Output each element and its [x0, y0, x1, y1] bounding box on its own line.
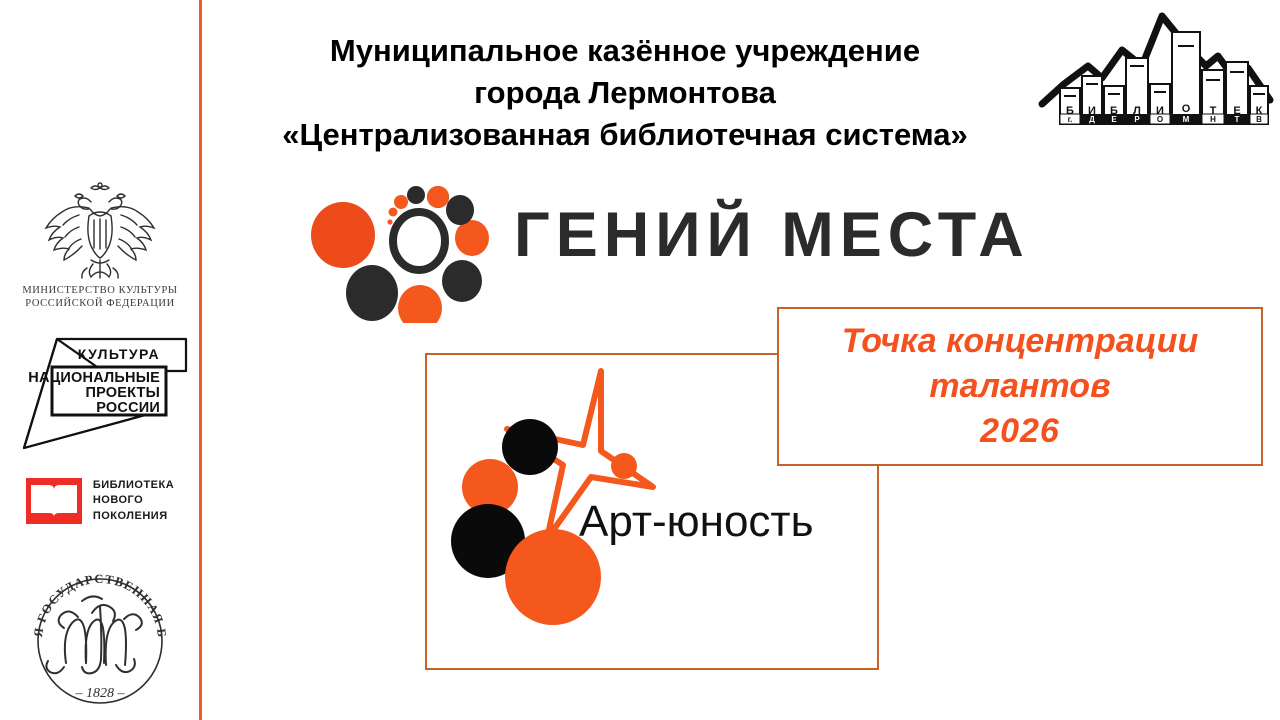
svg-text:Д: Д [1089, 115, 1095, 124]
caption-line-2: РОССИЙСКОЙ ФЕДЕРАЦИИ [25, 298, 175, 309]
svg-text:г.: г. [1068, 115, 1073, 124]
national-projects-top-label: КУЛЬТУРА [78, 346, 160, 362]
newgen-line-2: НОВОГО [93, 493, 174, 508]
svg-text:Р: Р [1134, 115, 1140, 124]
logo-national-projects: КУЛЬТУРА НАЦИОНАЛЬНЫЕ ПРОЕКТЫ РОССИИ [0, 335, 200, 460]
double-headed-eagle-lyre-icon [0, 182, 200, 282]
rsl-year: – 1828 – [75, 686, 126, 701]
geniy-mesta-dots-icon [300, 183, 510, 323]
geniy-mesta-wordmark: ГЕНИЙ МЕСТА [514, 199, 1030, 271]
title-line-1: Муниципальное казённое учреждение [205, 30, 1045, 72]
open-book-red-icon [26, 478, 82, 524]
tagline-card[interactable]: Точка концентрации талантов 2026 [777, 307, 1263, 466]
svg-text:В: В [1256, 115, 1262, 124]
svg-text:НАЦИОНАЛЬНЫЕ: НАЦИОНАЛЬНЫЕ [28, 370, 160, 386]
svg-text:О: О [1182, 103, 1191, 115]
svg-text:ПРОЕКТЫ: ПРОЕКТЫ [85, 385, 160, 401]
slide-canvas: МИНИСТЕРСТВО КУЛЬТУРЫ РОССИЙСКОЙ ФЕДЕРАЦ… [0, 0, 1280, 720]
svg-text:М: М [1183, 115, 1190, 124]
svg-text:Е: Е [1111, 115, 1117, 124]
ministry-of-culture-caption: МИНИСТЕРСТВО КУЛЬТУРЫ РОССИЙСКОЙ ФЕДЕРАЦ… [0, 284, 200, 310]
geniy-mesta-logo-lockup: ГЕНИЙ МЕСТА [300, 183, 1000, 323]
newgen-line-3: ПОКОЛЕНИЯ [93, 509, 174, 524]
title-line-2: города Лермонтова [205, 72, 1045, 114]
rsl-round-seal-icon: РОССИЙСКАЯ ГОСУДАРСТВЕННАЯ БИБЛИОТЕКА [20, 555, 180, 715]
tagline-line-1: Точка концентрации [842, 319, 1198, 364]
national-projects-banner-icon: КУЛЬТУРА НАЦИОНАЛЬНЫЕ ПРОЕКТЫ РОССИИ [10, 335, 190, 455]
new-generation-library-text: БИБЛИОТЕКА НОВОГО ПОКОЛЕНИЯ [93, 478, 174, 524]
svg-text:Т: Т [1235, 115, 1240, 124]
tagline-line-2: талантов [929, 364, 1110, 409]
newgen-line-1: БИБЛИОТЕКА [93, 478, 174, 493]
svg-text:РОССИИ: РОССИИ [96, 400, 160, 416]
lermontov-library-books-mountain-icon: Б И Б Л И О Т Е К [1038, 4, 1274, 134]
left-logo-rail: МИНИСТЕРСТВО КУЛЬТУРЫ РОССИЙСКОЙ ФЕДЕРАЦ… [0, 0, 200, 720]
art-yunost-label: Арт-юность [579, 497, 814, 547]
logo-russian-state-library: РОССИЙСКАЯ ГОСУДАРСТВЕННАЯ БИБЛИОТЕКА [0, 555, 200, 720]
page-title: Муниципальное казённое учреждение города… [205, 30, 1045, 156]
logo-new-generation-library: БИБЛИОТЕКА НОВОГО ПОКОЛЕНИЯ [0, 478, 200, 524]
svg-text:О: О [1157, 115, 1163, 124]
tagline-year: 2026 [980, 409, 1060, 454]
caption-line-1: МИНИСТЕРСТВО КУЛЬТУРЫ [22, 285, 177, 296]
svg-text:Н: Н [1210, 115, 1216, 124]
orange-vertical-divider [199, 0, 202, 720]
title-line-3: «Централизованная библиотечная система» [205, 114, 1045, 156]
logo-ministry-of-culture: МИНИСТЕРСТВО КУЛЬТУРЫ РОССИЙСКОЙ ФЕДЕРАЦ… [0, 182, 200, 310]
